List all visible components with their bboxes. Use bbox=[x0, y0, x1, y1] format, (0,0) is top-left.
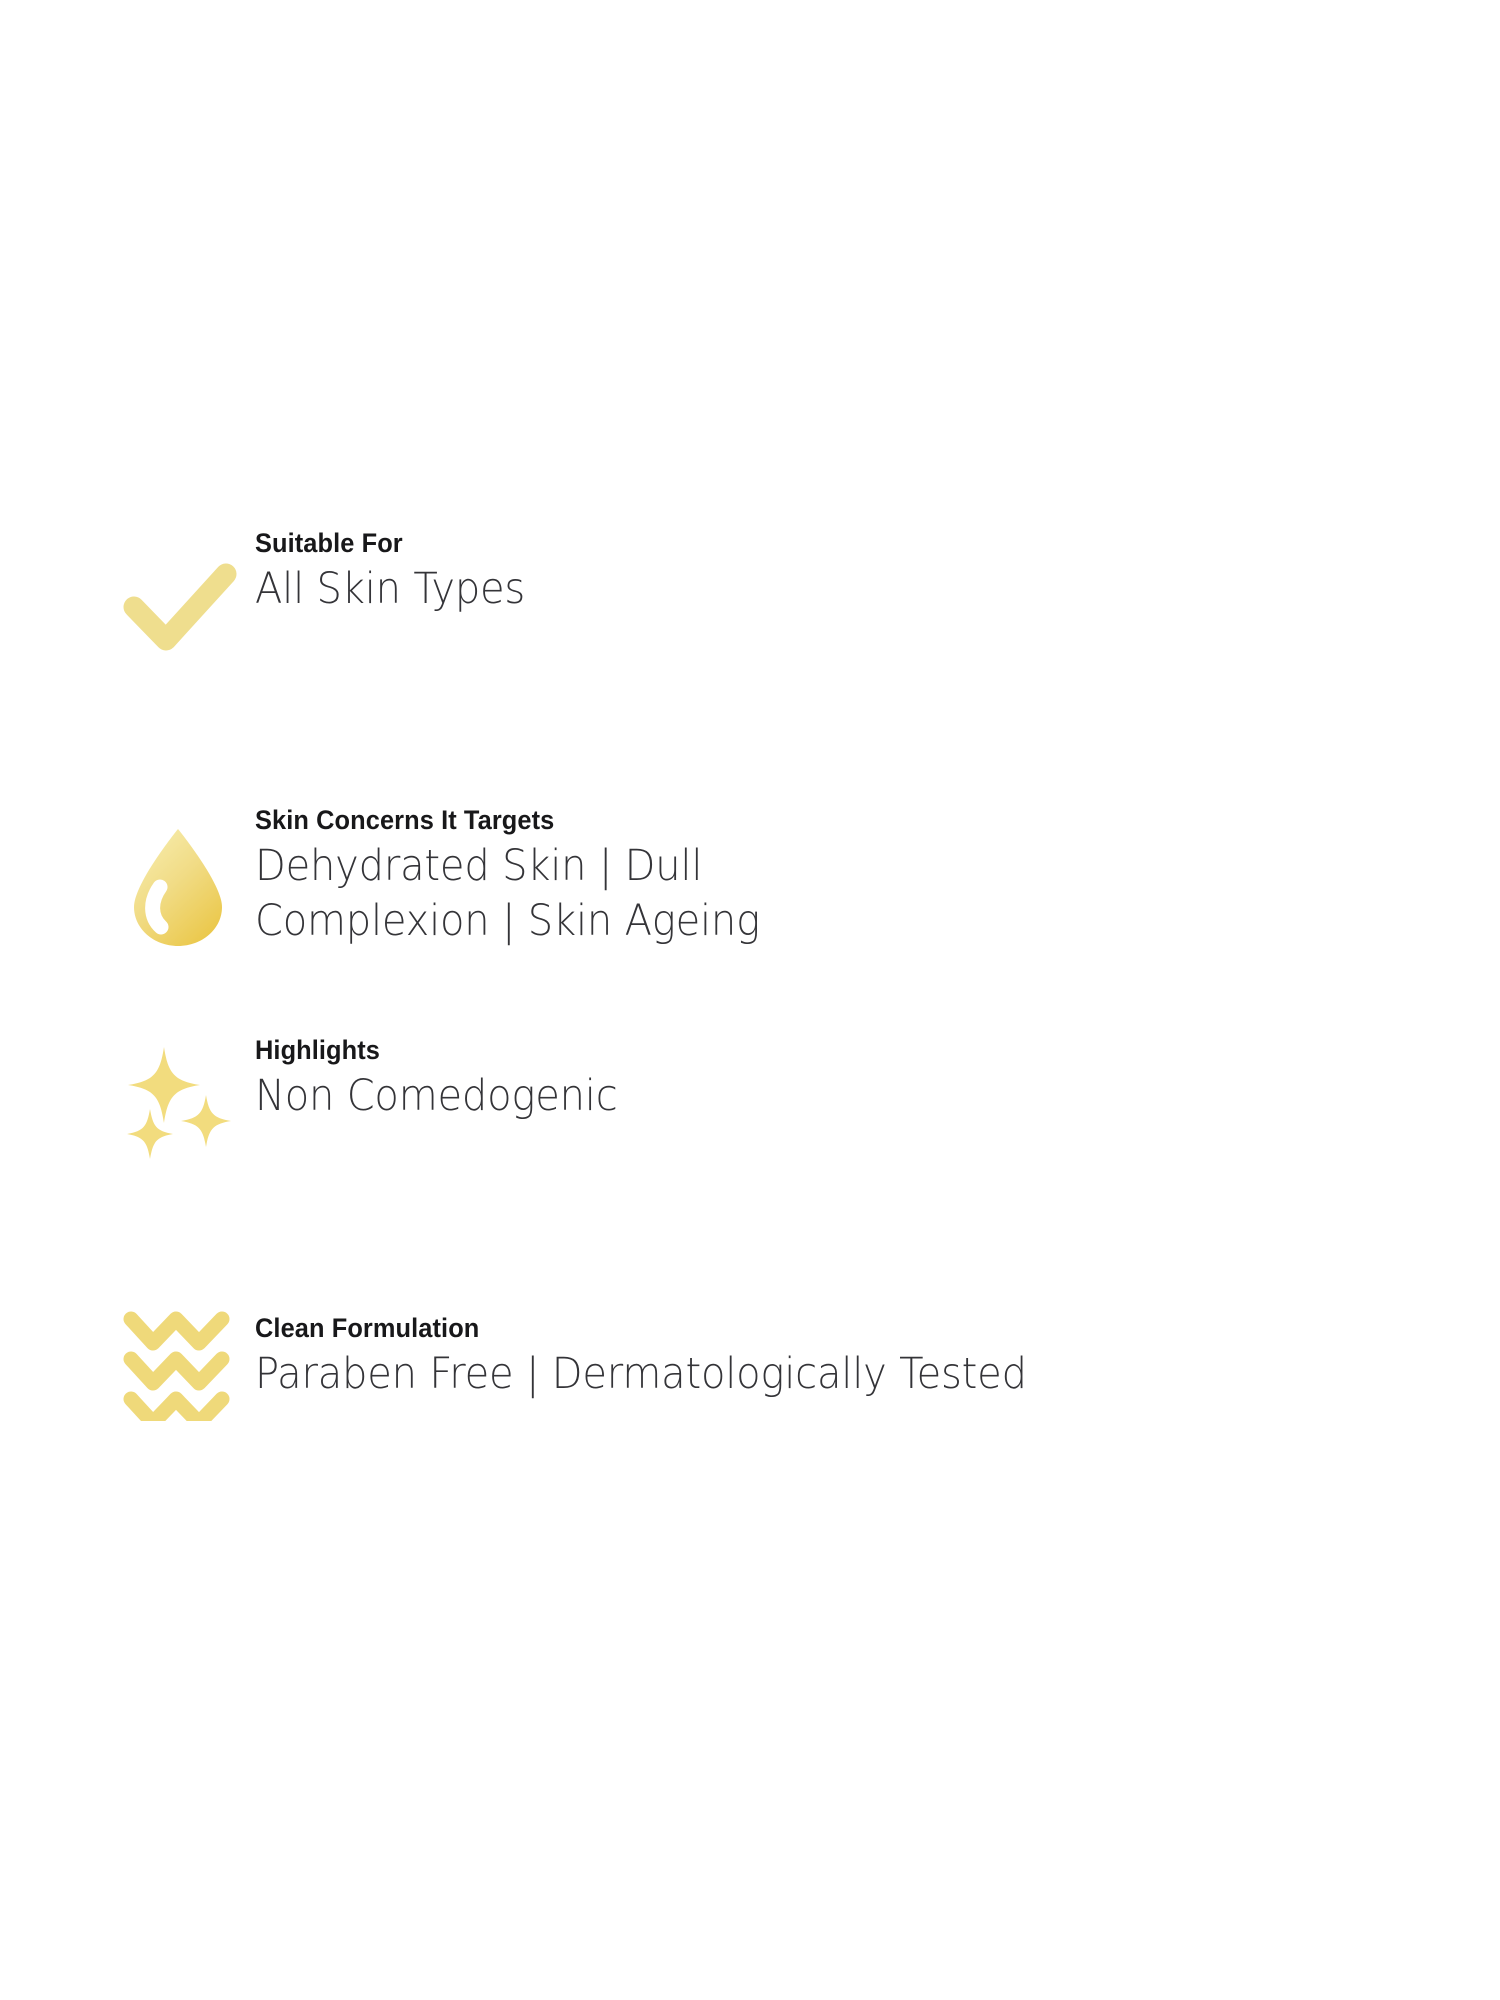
product-feature-panel: Suitable For All Skin Types bbox=[0, 0, 1500, 2000]
feature-title: Suitable For bbox=[255, 528, 1350, 560]
feature-row-suitable-for: Suitable For All Skin Types bbox=[100, 520, 1420, 660]
feature-row-highlights: Highlights Non Comedogenic bbox=[100, 1023, 1420, 1163]
feature-value-line: Dehydrated Skin | Dull bbox=[255, 839, 1338, 894]
droplet-icon bbox=[130, 825, 226, 951]
feature-row-skin-concerns: Skin Concerns It Targets Dehydrated Skin… bbox=[100, 805, 1420, 951]
feature-row-clean-formulation: Clean Formulation Paraben Free | Dermato… bbox=[100, 1293, 1420, 1421]
feature-value-line: Paraben Free | Dermatologically Tested bbox=[255, 1347, 1338, 1402]
feature-icon-cell bbox=[100, 1293, 255, 1421]
sparkles-icon bbox=[118, 1043, 238, 1163]
feature-icon-cell bbox=[100, 805, 255, 951]
feature-icon-cell bbox=[100, 1023, 255, 1163]
feature-value-line: Non Comedogenic bbox=[255, 1069, 1338, 1124]
feature-text-cell: Highlights Non Comedogenic bbox=[255, 1023, 1420, 1124]
feature-value-line: Complexion | Skin Ageing bbox=[255, 894, 1338, 949]
feature-text-cell: Skin Concerns It Targets Dehydrated Skin… bbox=[255, 805, 1420, 949]
check-icon bbox=[114, 560, 242, 660]
feature-text-cell: Clean Formulation Paraben Free | Dermato… bbox=[255, 1293, 1420, 1402]
feature-title: Skin Concerns It Targets bbox=[255, 805, 1350, 837]
feature-title: Highlights bbox=[255, 1035, 1350, 1067]
waves-icon bbox=[123, 1309, 233, 1421]
feature-list: Suitable For All Skin Types bbox=[100, 520, 1420, 1421]
feature-text-cell: Suitable For All Skin Types bbox=[255, 520, 1420, 617]
feature-value: Paraben Free | Dermatologically Tested bbox=[255, 1347, 1338, 1402]
feature-title: Clean Formulation bbox=[255, 1313, 1350, 1345]
feature-icon-cell bbox=[100, 520, 255, 660]
feature-value: All Skin Types bbox=[255, 562, 1338, 617]
feature-value: Non Comedogenic bbox=[255, 1069, 1338, 1124]
feature-value-line: All Skin Types bbox=[255, 562, 1338, 617]
feature-value: Dehydrated Skin | Dull Complexion | Skin… bbox=[255, 839, 1338, 949]
